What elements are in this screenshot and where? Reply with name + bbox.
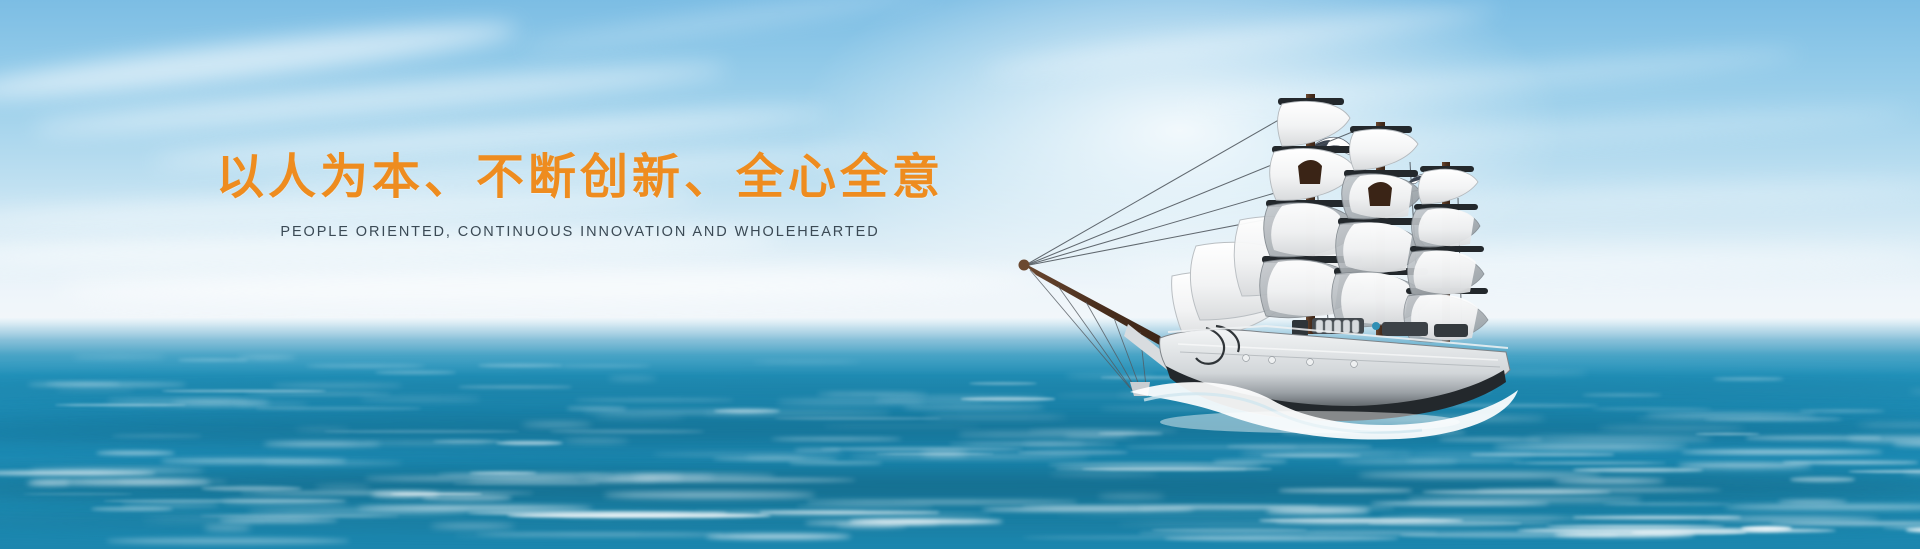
water-foam-streak	[805, 521, 939, 525]
water-foam-streak	[73, 356, 166, 358]
water-foam-streak	[1400, 532, 1619, 538]
water-foam-streak	[1380, 517, 1581, 519]
water-foam-streak	[778, 400, 922, 403]
water-foam-streak	[1909, 390, 1920, 393]
water-swell	[0, 511, 1920, 536]
water-foam-streak	[608, 377, 657, 380]
water-foam-streak	[1517, 528, 1836, 534]
water-foam-streak	[245, 393, 391, 395]
water-foam-streak	[1893, 442, 1920, 445]
water-foam-streak	[438, 472, 611, 477]
water-foam-streak	[1422, 490, 1611, 494]
water-foam-streak	[256, 407, 421, 410]
water-foam-streak	[468, 478, 659, 482]
water-swell	[0, 496, 1920, 532]
water-foam-streak	[583, 411, 776, 413]
water-foam-streak	[874, 401, 983, 403]
water-foam-streak	[593, 416, 685, 418]
water-foam-streak	[1847, 437, 1920, 441]
water-foam-streak	[876, 453, 994, 455]
water-foam-streak	[118, 480, 228, 483]
water-foam-streak	[453, 483, 599, 485]
cloud-wisp	[60, 263, 1040, 307]
water-foam-streak	[705, 512, 992, 517]
water-foam-streak	[55, 404, 186, 406]
water-foam-streak	[91, 507, 173, 511]
water-swell	[0, 426, 1920, 442]
water-foam-streak	[1783, 461, 1918, 463]
water-foam-streak	[363, 442, 500, 445]
water-foam-streak	[263, 442, 381, 446]
banner-copy: 以人为本、不断创新、全心全意 PEOPLE ORIENTED, CONTINUO…	[0, 150, 1160, 240]
water-foam-streak	[27, 383, 186, 386]
water-foam-streak	[433, 440, 501, 443]
water-foam-streak	[1139, 531, 1437, 535]
water-foam-streak	[1857, 424, 1920, 426]
water-swell	[0, 414, 1920, 427]
water-foam-streak	[1695, 433, 1760, 435]
water-foam-streak	[1524, 527, 1689, 529]
water-foam-streak	[1603, 503, 1730, 505]
water-foam-streak	[1713, 378, 1783, 380]
water-foam-streak	[272, 384, 403, 387]
water-foam-streak	[235, 403, 309, 406]
water-foam-streak	[1681, 450, 1883, 454]
water-foam-streak	[705, 411, 890, 414]
water-foam-streak	[1906, 527, 1920, 532]
water-swell	[0, 477, 1920, 500]
water-foam-streak	[1152, 528, 1308, 531]
water-swell	[0, 509, 1920, 529]
water-foam-streak	[823, 426, 981, 428]
water-foam-streak	[1903, 472, 1920, 474]
water-foam-streak	[361, 398, 481, 400]
water-foam-streak	[1164, 536, 1399, 541]
water-foam-streak	[295, 428, 350, 431]
water-foam-streak	[1680, 468, 1814, 470]
water-swell	[0, 457, 1920, 488]
water-foam-streak	[563, 439, 629, 443]
water-foam-streak	[565, 516, 753, 518]
water-foam-streak	[706, 534, 851, 539]
water-foam-streak	[575, 399, 733, 401]
water-foam-streak	[1799, 410, 1885, 412]
cloud-wisp	[521, 0, 939, 57]
water-foam-streak	[981, 508, 1195, 511]
water-foam-streak	[1554, 532, 1695, 537]
water-foam-streak	[849, 519, 1003, 524]
water-foam-streak	[45, 383, 121, 385]
water-swell	[0, 388, 1920, 416]
cloud-wisp	[30, 56, 730, 143]
water-foam-streak	[122, 502, 219, 507]
water-foam-streak	[1631, 530, 1747, 536]
water-foam-streak	[371, 492, 440, 497]
water-foam-streak	[556, 365, 651, 367]
water-foam-streak	[364, 477, 584, 481]
water-foam-streak	[1513, 462, 1666, 464]
water-foam-streak	[247, 509, 470, 514]
water-foam-streak	[567, 407, 626, 409]
page-title: 以人为本、不断创新、全心全意	[0, 150, 1160, 206]
water-foam-streak	[1266, 508, 1370, 514]
water-foam-streak	[1582, 394, 1662, 396]
water-swell	[0, 371, 1920, 401]
water-foam-streak	[496, 441, 563, 445]
water-foam-streak	[162, 390, 326, 392]
water-foam-streak	[1368, 521, 1523, 526]
water-foam-streak	[632, 476, 684, 479]
water-foam-streak	[921, 452, 969, 456]
water-foam-streak	[375, 371, 456, 374]
water-swell	[0, 469, 1920, 491]
water-foam-streak	[583, 478, 855, 482]
water-foam-streak	[1741, 526, 1792, 531]
water-foam-streak	[1259, 518, 1463, 523]
water-foam-streak	[713, 457, 837, 461]
water-foam-streak	[324, 430, 519, 433]
water-foam-streak	[204, 525, 252, 530]
water-foam-streak	[578, 474, 777, 477]
water-foam-streak	[238, 356, 296, 359]
water-foam-streak	[1790, 477, 1855, 482]
water-swell	[0, 409, 1920, 430]
water-foam-streak	[1022, 504, 1320, 509]
water-swell	[0, 425, 1920, 456]
water-foam-streak	[817, 393, 927, 395]
page-subtitle: PEOPLE ORIENTED, CONTINUOUS INNOVATION A…	[0, 224, 1160, 240]
water-foam-streak	[1138, 507, 1396, 509]
water-foam-streak	[746, 456, 804, 458]
water-foam-streak	[1637, 417, 1839, 420]
water-foam-streak	[1704, 418, 1844, 421]
water-foam-streak	[789, 462, 882, 464]
water-foam-streak	[1057, 514, 1315, 516]
water-foam-streak	[1098, 495, 1165, 498]
water-foam-streak	[222, 499, 346, 503]
water-foam-streak	[1118, 523, 1380, 525]
water-foam-streak	[422, 495, 512, 501]
water-foam-streak	[106, 538, 350, 544]
water-foam-streak	[1573, 516, 1741, 518]
water-foam-streak	[1546, 525, 1726, 528]
water-foam-streak	[240, 492, 533, 494]
water-foam-streak	[1883, 527, 1920, 529]
water-foam-streak	[1526, 437, 1712, 441]
water-foam-streak	[1725, 505, 1920, 509]
water-foam-streak	[604, 492, 816, 498]
water-foam-streak	[1848, 470, 1920, 473]
water-foam-streak	[807, 501, 1077, 503]
water-foam-streak	[178, 359, 248, 361]
water-foam-streak	[112, 435, 202, 437]
water-foam-streak	[454, 535, 741, 537]
water-foam-streak	[1275, 520, 1553, 526]
water-foam-streak	[753, 361, 860, 363]
water-foam-streak	[476, 533, 722, 535]
water-foam-streak	[771, 438, 902, 440]
water-foam-streak	[1598, 427, 1745, 429]
water-foam-streak	[142, 523, 264, 525]
water-foam-streak	[60, 481, 212, 484]
water-foam-streak	[1770, 522, 1920, 525]
water-foam-streak	[200, 515, 400, 517]
water-foam-streak	[55, 389, 134, 392]
water-foam-streak	[23, 493, 133, 495]
water-foam-streak	[105, 402, 271, 405]
water-foam-streak	[695, 510, 867, 513]
water-swell	[0, 481, 1920, 510]
water-foam-streak	[315, 485, 371, 490]
water-foam-streak	[263, 461, 403, 465]
water-swell	[0, 476, 1920, 506]
water-foam-streak	[1023, 536, 1303, 539]
water-foam-streak	[469, 472, 536, 474]
water-foam-streak	[797, 505, 934, 507]
water-foam-streak	[549, 430, 705, 433]
water-foam-streak	[96, 451, 175, 455]
tall-ship-illustration	[1010, 70, 1530, 490]
water-foam-streak	[0, 471, 156, 475]
water-foam-streak	[1554, 479, 1665, 483]
water-foam-streak	[458, 386, 571, 388]
water-foam-streak	[652, 453, 846, 456]
water-foam-streak	[1371, 502, 1549, 505]
water-foam-streak	[507, 513, 771, 518]
water-foam-streak	[32, 479, 210, 484]
water-swell	[0, 476, 1920, 503]
water-foam-streak	[201, 486, 302, 491]
water-foam-streak	[391, 493, 482, 495]
water-foam-streak	[760, 511, 939, 513]
water-foam-streak	[430, 524, 515, 528]
water-foam-streak	[103, 499, 346, 503]
water-foam-streak	[794, 448, 841, 452]
water-foam-streak	[522, 423, 592, 426]
water-foam-streak	[468, 511, 728, 515]
water-foam-streak	[1645, 413, 1816, 416]
water-foam-streak	[172, 401, 269, 404]
water-foam-streak	[774, 417, 942, 420]
water-foam-streak	[142, 517, 319, 520]
water-foam-streak	[1678, 463, 1811, 466]
sea-background	[0, 318, 1920, 549]
water-foam-streak	[1305, 531, 1587, 534]
hero-banner: 以人为本、不断创新、全心全意 PEOPLE ORIENTED, CONTINUO…	[0, 0, 1920, 549]
water-foam-streak	[1707, 517, 1879, 521]
water-foam-streak	[27, 481, 69, 485]
water-foam-streak	[607, 476, 716, 478]
water-foam-streak	[821, 447, 1022, 451]
bowsprit	[1019, 260, 1187, 397]
water-foam-streak	[478, 364, 563, 367]
cloud-wisp	[0, 12, 520, 109]
water-foam-streak	[306, 365, 425, 367]
water-foam-streak	[836, 524, 907, 528]
water-swell	[0, 419, 1920, 447]
water-foam-streak	[1746, 436, 1882, 439]
water-foam-streak	[107, 399, 248, 401]
water-foam-streak	[29, 469, 205, 472]
water-foam-streak	[1408, 498, 1641, 500]
water-foam-streak	[1778, 500, 1847, 504]
water-foam-streak	[1592, 408, 1712, 410]
water-foam-streak	[714, 409, 780, 413]
water-foam-streak	[357, 506, 593, 510]
water-foam-streak	[219, 518, 339, 523]
water-foam-streak	[161, 459, 347, 462]
water-foam-streak	[1573, 468, 1704, 472]
